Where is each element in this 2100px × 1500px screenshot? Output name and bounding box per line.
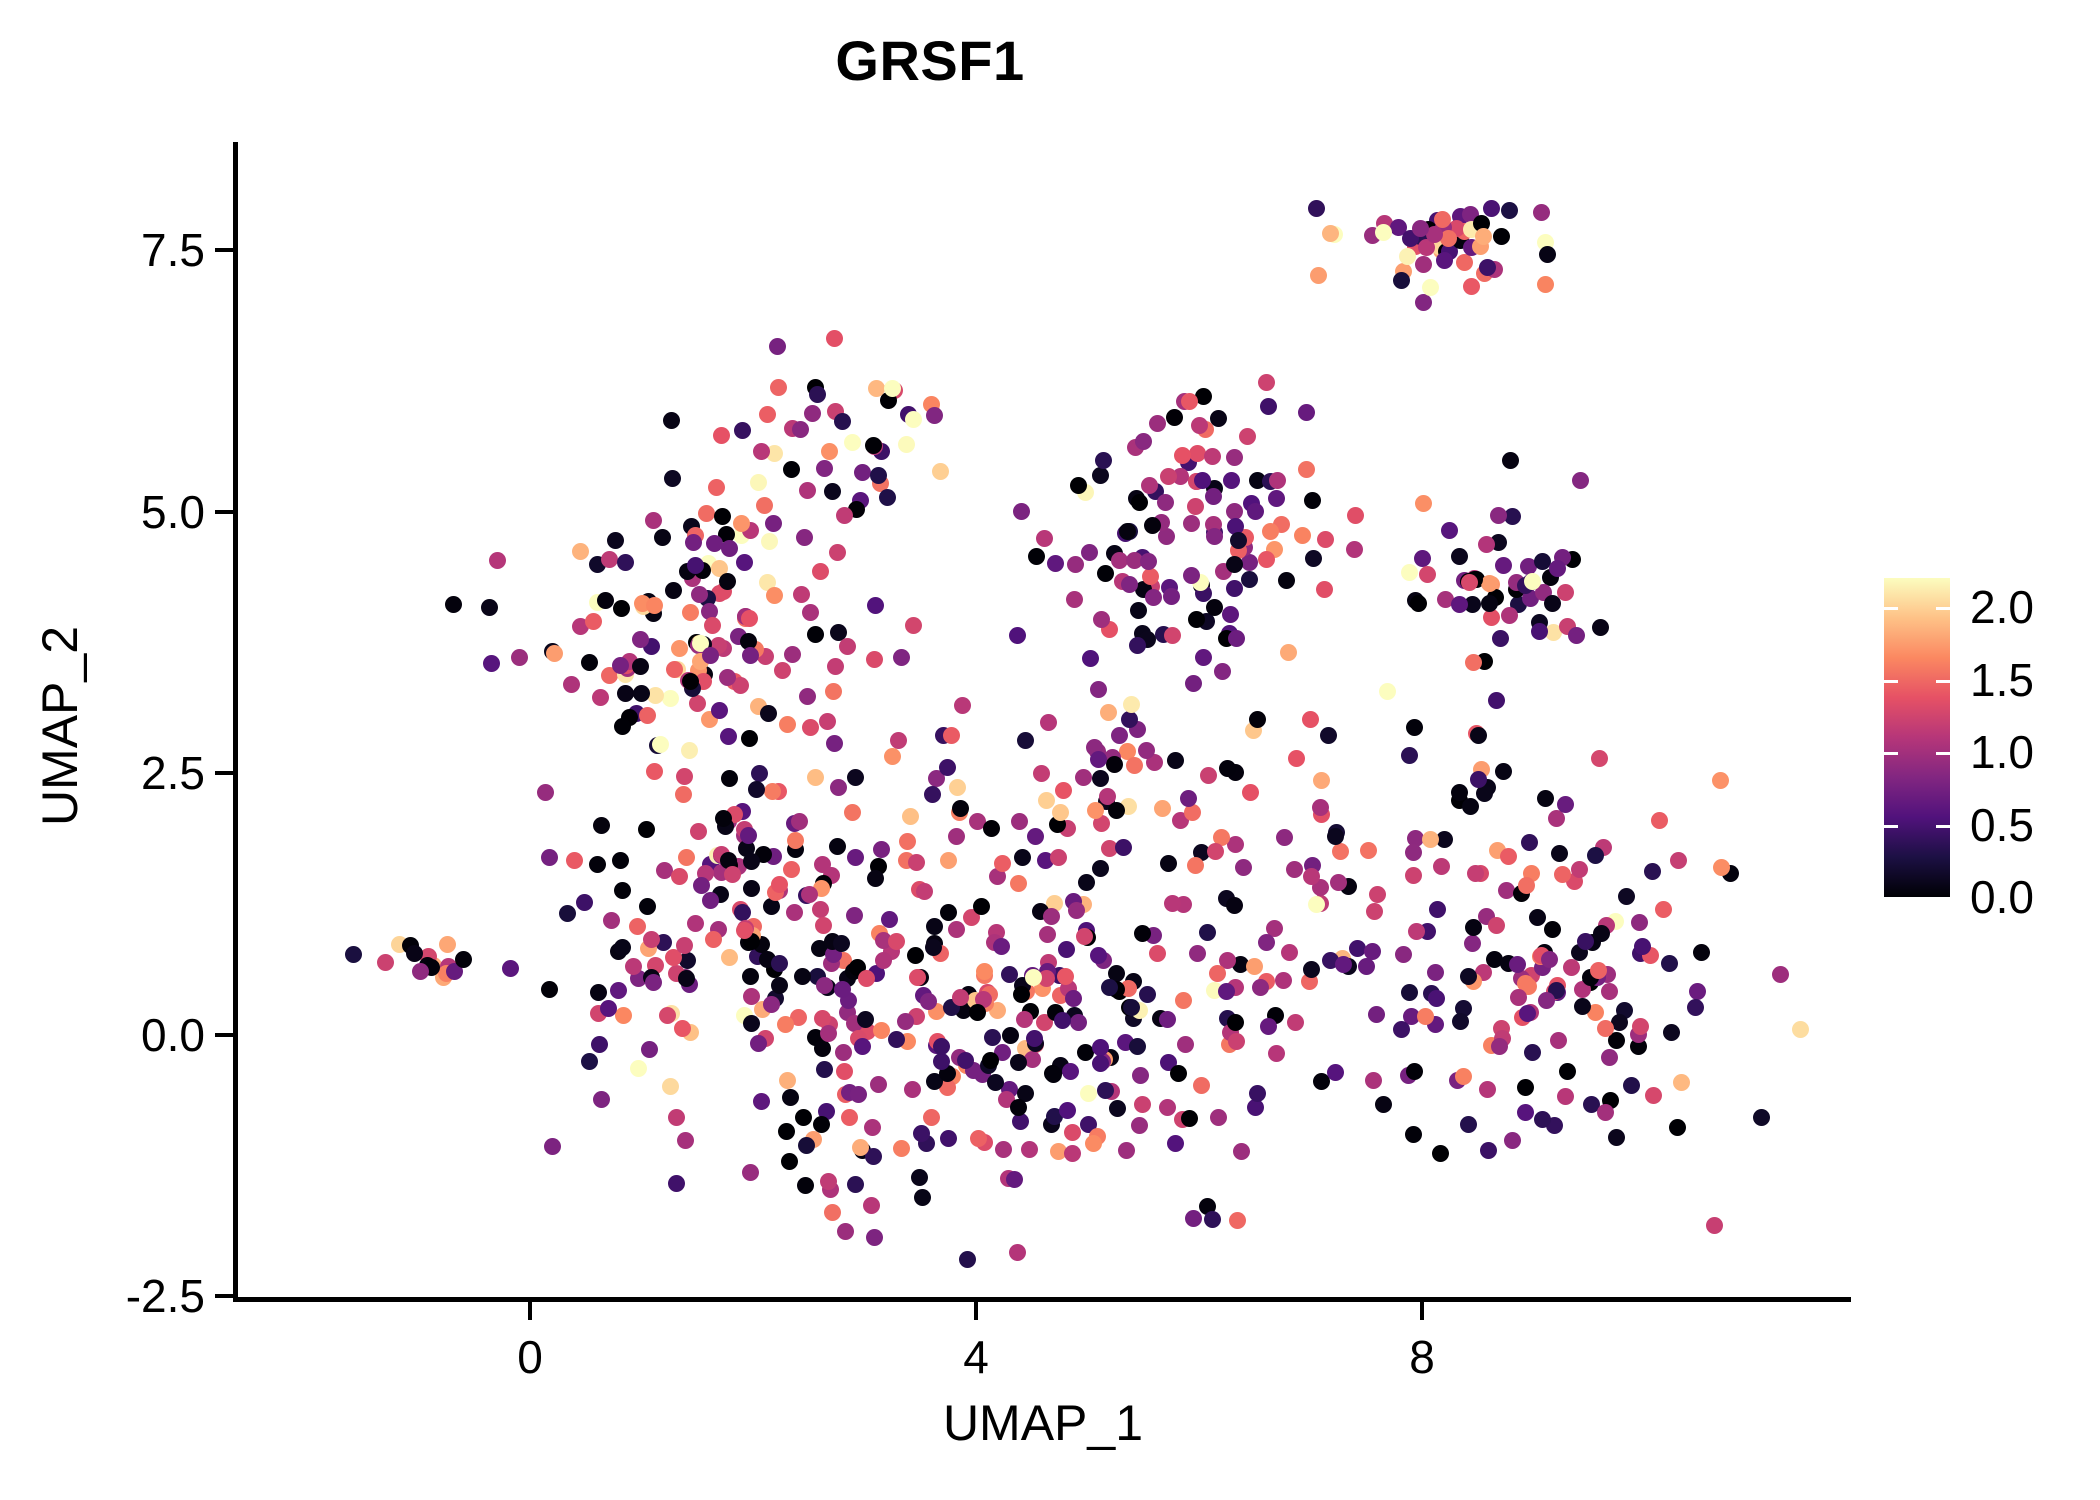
scatter-point bbox=[1493, 228, 1510, 245]
scatter-point bbox=[1195, 388, 1212, 405]
scatter-point bbox=[1200, 767, 1217, 784]
scatter-point bbox=[743, 853, 760, 870]
scatter-point bbox=[1009, 627, 1026, 644]
scatter-point bbox=[1174, 447, 1191, 464]
scatter-point bbox=[632, 631, 649, 648]
scatter-point bbox=[1047, 555, 1064, 572]
scatter-point bbox=[1269, 472, 1286, 489]
scatter-point bbox=[904, 1081, 921, 1098]
scatter-point bbox=[1228, 1033, 1245, 1050]
scatter-point bbox=[825, 683, 842, 700]
y-tick-label: 0.0 bbox=[5, 1012, 205, 1058]
scatter-point bbox=[779, 1072, 796, 1089]
scatter-point bbox=[1205, 488, 1222, 505]
scatter-point bbox=[783, 861, 800, 878]
scatter-point bbox=[1210, 410, 1227, 427]
scatter-point bbox=[1422, 279, 1439, 296]
scatter-point bbox=[1713, 859, 1730, 876]
scatter-point bbox=[865, 437, 882, 454]
scatter-point bbox=[1481, 595, 1498, 612]
scatter-point bbox=[625, 958, 642, 975]
scatter-point bbox=[1501, 607, 1518, 624]
scatter-point bbox=[664, 470, 681, 487]
scatter-point bbox=[1011, 813, 1028, 830]
scatter-point bbox=[819, 713, 836, 730]
scatter-point bbox=[1080, 1085, 1097, 1102]
scatter-point bbox=[820, 1025, 837, 1042]
scatter-point bbox=[993, 938, 1010, 955]
scatter-point bbox=[1276, 829, 1293, 846]
y-tick-mark bbox=[215, 510, 233, 514]
scatter-point bbox=[1123, 999, 1140, 1016]
scatter-point bbox=[1460, 1116, 1477, 1133]
scatter-point bbox=[1298, 404, 1315, 421]
scatter-point bbox=[592, 689, 609, 706]
scatter-point bbox=[1140, 553, 1157, 570]
scatter-point bbox=[816, 1061, 833, 1078]
scatter-point bbox=[1002, 1027, 1019, 1044]
scatter-point bbox=[1070, 477, 1087, 494]
scatter-point bbox=[984, 1029, 1001, 1046]
scatter-point bbox=[1194, 472, 1211, 489]
scatter-point bbox=[798, 1137, 815, 1154]
scatter-point bbox=[751, 765, 768, 782]
scatter-point bbox=[1537, 790, 1554, 807]
scatter-point bbox=[1375, 1096, 1392, 1113]
scatter-point bbox=[994, 855, 1011, 872]
scatter-point bbox=[741, 730, 758, 747]
scatter-point bbox=[1207, 843, 1224, 860]
scatter-point bbox=[1280, 644, 1297, 661]
y-tick-mark bbox=[215, 248, 233, 252]
scatter-point bbox=[830, 779, 847, 796]
scatter-point bbox=[541, 981, 558, 998]
scatter-point bbox=[1167, 1135, 1184, 1152]
scatter-point bbox=[1093, 611, 1110, 628]
scatter-point bbox=[662, 1078, 679, 1095]
scatter-point bbox=[826, 330, 843, 347]
scatter-point bbox=[1059, 1102, 1076, 1119]
scatter-point bbox=[1204, 448, 1221, 465]
scatter-point bbox=[761, 533, 778, 550]
scatter-point bbox=[1131, 1117, 1148, 1134]
scatter-point bbox=[741, 610, 758, 627]
scatter-point bbox=[863, 1197, 880, 1214]
scatter-point bbox=[1401, 564, 1418, 581]
scatter-point bbox=[1470, 727, 1487, 744]
scatter-point bbox=[925, 939, 942, 956]
scatter-point bbox=[1476, 785, 1493, 802]
scatter-point bbox=[1180, 790, 1197, 807]
scatter-point bbox=[698, 505, 715, 522]
scatter-point bbox=[1187, 498, 1204, 515]
scatter-point bbox=[1655, 901, 1672, 918]
scatter-point bbox=[1223, 472, 1240, 489]
scatter-point bbox=[1475, 228, 1492, 245]
scatter-point bbox=[1406, 719, 1423, 736]
scatter-point bbox=[1415, 294, 1432, 311]
scatter-point bbox=[897, 1013, 914, 1030]
scatter-point bbox=[1039, 926, 1056, 943]
scatter-point bbox=[1559, 1063, 1576, 1080]
scatter-point bbox=[1405, 844, 1422, 861]
scatter-point bbox=[1281, 944, 1298, 961]
scatter-point bbox=[1013, 986, 1030, 1003]
scatter-point bbox=[1185, 1210, 1202, 1227]
scatter-point bbox=[645, 512, 662, 529]
scatter-point bbox=[1066, 591, 1083, 608]
scatter-point bbox=[689, 695, 706, 712]
scatter-point bbox=[1753, 1109, 1770, 1126]
scatter-point bbox=[1669, 1119, 1686, 1136]
scatter-point bbox=[893, 1140, 910, 1157]
scatter-point bbox=[645, 974, 662, 991]
scatter-point bbox=[1075, 769, 1092, 786]
scatter-point bbox=[940, 904, 957, 921]
scatter-point bbox=[1177, 1036, 1194, 1053]
scatter-point bbox=[1097, 565, 1114, 582]
scatter-point bbox=[1092, 860, 1109, 877]
scatter-point bbox=[1164, 627, 1181, 644]
scatter-point bbox=[835, 1044, 852, 1061]
scatter-point bbox=[1517, 1079, 1534, 1096]
scatter-point bbox=[639, 707, 656, 724]
scatter-point bbox=[612, 657, 629, 674]
scatter-point bbox=[888, 1031, 905, 1048]
page-title: GRSF1 bbox=[0, 28, 1860, 93]
scatter-point bbox=[884, 380, 901, 397]
scatter-point bbox=[1518, 877, 1535, 894]
scatter-point bbox=[1286, 861, 1303, 878]
scatter-point bbox=[511, 649, 528, 666]
scatter-point bbox=[652, 736, 669, 753]
scatter-point bbox=[1141, 477, 1158, 494]
scatter-point bbox=[591, 1036, 608, 1053]
scatter-point bbox=[1210, 1109, 1227, 1126]
scatter-point bbox=[742, 1164, 759, 1181]
scatter-point bbox=[943, 727, 960, 744]
scatter-point bbox=[1268, 1045, 1285, 1062]
scatter-point bbox=[1115, 839, 1132, 856]
scatter-point bbox=[1298, 461, 1315, 478]
x-tick-mark bbox=[528, 1302, 532, 1320]
scatter-point bbox=[1504, 1132, 1521, 1149]
scatter-point bbox=[1303, 961, 1320, 978]
scatter-point bbox=[687, 915, 704, 932]
scatter-point bbox=[1365, 1072, 1382, 1089]
scatter-point bbox=[1410, 595, 1427, 612]
scatter-point bbox=[1501, 202, 1518, 219]
scatter-point bbox=[847, 769, 864, 786]
scatter-point bbox=[792, 421, 809, 438]
scatter-point bbox=[1132, 1067, 1149, 1084]
scatter-point bbox=[1502, 452, 1519, 469]
scatter-point bbox=[1131, 494, 1148, 511]
scatter-point bbox=[812, 563, 829, 580]
scatter-point bbox=[1320, 727, 1337, 744]
scatter-point bbox=[1085, 1135, 1102, 1152]
scatter-point bbox=[1481, 575, 1498, 592]
scatter-point bbox=[1492, 630, 1509, 647]
scatter-point bbox=[899, 833, 916, 850]
scatter-point bbox=[566, 852, 583, 869]
scatter-point bbox=[633, 685, 650, 702]
scatter-point bbox=[1428, 990, 1445, 1007]
scatter-point bbox=[617, 554, 634, 571]
scatter-point bbox=[786, 904, 803, 921]
scatter-point bbox=[1405, 867, 1422, 884]
scatter-point bbox=[1226, 449, 1243, 466]
scatter-point bbox=[1078, 874, 1095, 891]
scatter-point bbox=[791, 813, 808, 830]
scatter-point bbox=[1185, 675, 1202, 692]
scatter-point bbox=[1101, 979, 1118, 996]
scatter-point bbox=[826, 735, 843, 752]
scatter-point bbox=[632, 658, 649, 675]
scatter-point bbox=[829, 544, 846, 561]
scatter-point bbox=[1278, 572, 1295, 589]
x-axis-title: UMAP_1 bbox=[236, 1394, 1850, 1452]
scatter-point bbox=[715, 810, 732, 827]
scatter-point bbox=[1235, 859, 1252, 876]
scatter-point bbox=[1618, 888, 1635, 905]
scatter-point bbox=[1554, 866, 1571, 883]
scatter-point bbox=[763, 996, 780, 1013]
colorbar-tick-mark bbox=[1936, 897, 1950, 900]
scatter-point bbox=[888, 933, 905, 950]
scatter-point bbox=[638, 821, 655, 838]
scatter-point bbox=[769, 338, 786, 355]
scatter-point bbox=[1038, 792, 1055, 809]
scatter-point bbox=[881, 911, 898, 928]
scatter-point bbox=[893, 649, 910, 666]
scatter-point bbox=[1014, 849, 1031, 866]
scatter-point bbox=[1360, 842, 1377, 859]
scatter-point bbox=[641, 1041, 658, 1058]
scatter-point bbox=[1090, 681, 1107, 698]
scatter-point bbox=[614, 939, 631, 956]
scatter-point bbox=[1082, 650, 1099, 667]
scatter-point bbox=[345, 946, 362, 963]
scatter-point bbox=[1313, 772, 1330, 789]
scatter-point bbox=[1017, 732, 1034, 749]
scatter-point bbox=[1537, 276, 1554, 293]
scatter-point bbox=[610, 982, 627, 999]
scatter-point bbox=[1544, 595, 1561, 612]
scatter-point bbox=[613, 600, 630, 617]
scatter-point bbox=[1149, 945, 1166, 962]
scatter-point bbox=[850, 1086, 867, 1103]
scatter-point bbox=[1592, 619, 1609, 636]
scatter-point bbox=[1145, 589, 1162, 606]
scatter-point bbox=[1187, 857, 1204, 874]
scatter-point bbox=[782, 1089, 799, 1106]
scatter-point bbox=[721, 770, 738, 787]
scatter-point bbox=[924, 786, 941, 803]
scatter-point bbox=[884, 748, 901, 765]
scatter-point bbox=[724, 866, 741, 883]
scatter-point bbox=[1463, 278, 1480, 295]
scatter-point bbox=[1623, 1077, 1640, 1094]
scatter-point bbox=[585, 613, 602, 630]
scatter-point bbox=[774, 662, 791, 679]
scatter-point bbox=[764, 783, 781, 800]
scatter-point bbox=[1130, 602, 1147, 619]
scatter-point bbox=[796, 529, 813, 546]
scatter-point bbox=[678, 970, 695, 987]
scatter-point bbox=[1108, 802, 1125, 819]
scatter-point bbox=[858, 970, 875, 987]
scatter-point bbox=[923, 1109, 940, 1126]
scatter-point bbox=[1663, 1024, 1680, 1041]
colorbar-legend[interactable] bbox=[1884, 578, 1950, 897]
colorbar-tick-label: 0.5 bbox=[1970, 802, 2034, 848]
scatter-point bbox=[1064, 1124, 1081, 1141]
scatter-point bbox=[846, 907, 863, 924]
scatter-point bbox=[1252, 979, 1269, 996]
scatter-point bbox=[1574, 998, 1591, 1015]
scatter-point bbox=[1395, 946, 1412, 963]
scatter-point bbox=[902, 808, 919, 825]
scatter-point bbox=[668, 1109, 685, 1126]
scatter-point bbox=[481, 599, 498, 616]
scatter-point bbox=[675, 786, 692, 803]
scatter-point bbox=[816, 460, 833, 477]
x-axis-line bbox=[233, 1297, 1851, 1302]
scatter-point bbox=[1065, 990, 1082, 1007]
scatter-point bbox=[1139, 986, 1156, 1003]
scatter-point bbox=[771, 955, 788, 972]
scatter-point bbox=[911, 1169, 928, 1186]
scatter-point bbox=[1366, 903, 1383, 920]
scatter-point bbox=[1632, 1018, 1649, 1035]
scatter-point bbox=[1712, 772, 1729, 789]
scatter-point bbox=[1557, 1088, 1574, 1105]
scatter-point bbox=[1433, 858, 1450, 875]
x-tick-mark bbox=[974, 1302, 978, 1320]
scatter-point bbox=[1551, 845, 1568, 862]
scatter-point bbox=[857, 1011, 874, 1028]
scatter-point bbox=[1597, 1020, 1614, 1037]
scatter-point bbox=[1242, 784, 1259, 801]
scatter-point bbox=[1597, 1104, 1614, 1121]
scatter-point bbox=[1332, 843, 1349, 860]
scatter-point bbox=[1239, 428, 1256, 445]
scatter-point bbox=[1092, 1055, 1109, 1072]
scatter-point bbox=[1126, 757, 1143, 774]
scatter-point bbox=[793, 586, 810, 603]
scatter-point bbox=[1121, 576, 1138, 593]
scatter-point bbox=[1157, 494, 1174, 511]
scatter-point bbox=[1228, 630, 1245, 647]
colorbar-tick-mark bbox=[1936, 607, 1950, 610]
scatter-point bbox=[1247, 503, 1264, 520]
scatter-point bbox=[756, 497, 773, 514]
scatter-point bbox=[766, 587, 783, 604]
scatter-point bbox=[601, 551, 618, 568]
scatter-point bbox=[1189, 945, 1206, 962]
scatter-point bbox=[1317, 531, 1334, 548]
scatter-point bbox=[713, 427, 730, 444]
scatter-point bbox=[957, 1052, 974, 1069]
scatter-point bbox=[1159, 1099, 1176, 1116]
scatter-point bbox=[559, 905, 576, 922]
scatter-point bbox=[875, 952, 892, 969]
scatter-point bbox=[581, 1053, 598, 1070]
scatter-point bbox=[1121, 711, 1138, 728]
scatter-point bbox=[1222, 606, 1239, 623]
scatter-point bbox=[1070, 1014, 1087, 1031]
scatter-point bbox=[1149, 415, 1166, 432]
scatter-point bbox=[837, 1223, 854, 1240]
scatter-point bbox=[770, 379, 787, 396]
scatter-point bbox=[1651, 812, 1668, 829]
scatter-point bbox=[593, 817, 610, 834]
scatter-point bbox=[784, 646, 801, 663]
y-tick-mark bbox=[215, 1033, 233, 1037]
y-axis-title: UMAP_2 bbox=[31, 526, 89, 926]
scatter-point bbox=[948, 828, 965, 845]
scatter-point bbox=[908, 854, 925, 871]
scatter-point bbox=[1533, 204, 1550, 221]
scatter-point bbox=[1058, 941, 1075, 958]
scatter-point bbox=[445, 596, 462, 613]
scatter-point bbox=[907, 947, 924, 964]
scatter-point bbox=[1167, 752, 1184, 769]
scatter-point bbox=[1013, 503, 1030, 520]
scatter-point bbox=[804, 405, 821, 422]
scatter-point bbox=[704, 617, 721, 634]
scatter-point bbox=[1027, 828, 1044, 845]
scatter-point bbox=[1009, 1244, 1026, 1261]
scatter-point bbox=[760, 705, 777, 722]
scatter-point bbox=[1026, 1030, 1043, 1047]
scatter-point bbox=[1393, 1021, 1410, 1038]
colorbar-tick-label: 1.0 bbox=[1970, 729, 2034, 775]
y-tick-mark bbox=[215, 1294, 233, 1298]
scatter-point bbox=[1062, 1063, 1079, 1080]
scatter-point bbox=[802, 604, 819, 621]
scatter-point bbox=[1036, 530, 1053, 547]
scatter-point bbox=[1422, 831, 1439, 848]
plot-panel[interactable] bbox=[236, 142, 1850, 1299]
scatter-point bbox=[1415, 256, 1432, 273]
scatter-point bbox=[1661, 955, 1678, 972]
scatter-point bbox=[1601, 983, 1618, 1000]
scatter-point bbox=[1092, 1039, 1109, 1056]
scatter-point bbox=[1634, 938, 1651, 955]
scatter-point bbox=[866, 651, 883, 668]
scatter-point bbox=[614, 882, 631, 899]
scatter-point bbox=[1204, 1211, 1221, 1228]
scatter-point bbox=[597, 592, 614, 609]
scatter-point bbox=[1310, 267, 1327, 284]
scatter-point bbox=[814, 1010, 831, 1027]
scatter-point bbox=[1106, 756, 1123, 773]
scatter-point bbox=[1118, 1142, 1135, 1159]
scatter-point bbox=[1335, 956, 1352, 973]
scatter-point bbox=[544, 1138, 561, 1155]
scatter-point bbox=[654, 529, 671, 546]
scatter-point bbox=[867, 597, 884, 614]
scatter-point bbox=[1347, 507, 1364, 524]
scatter-point bbox=[1689, 983, 1706, 1000]
scatter-point bbox=[1164, 895, 1181, 912]
scatter-point bbox=[1434, 211, 1451, 228]
scatter-point bbox=[1465, 919, 1482, 936]
scatter-point bbox=[1262, 523, 1279, 540]
scatter-point bbox=[1544, 921, 1561, 938]
